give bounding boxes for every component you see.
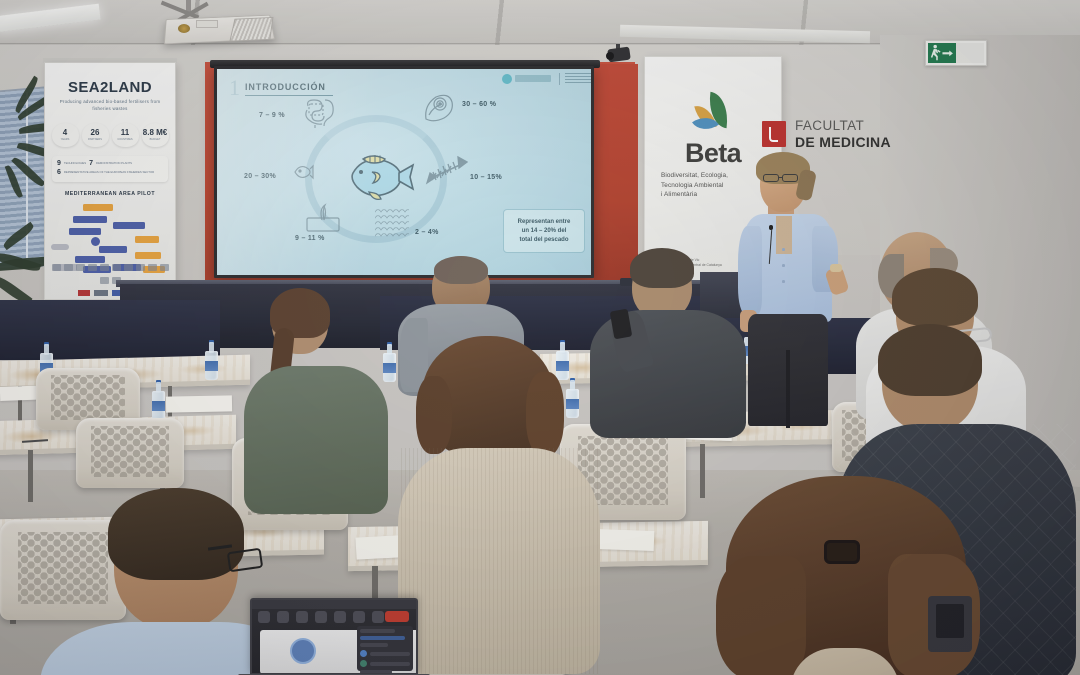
water-bottle[interactable] bbox=[205, 340, 218, 380]
secondary-logo-icon bbox=[565, 73, 591, 84]
intestines-icon bbox=[303, 97, 339, 134]
shirt-button bbox=[782, 264, 785, 267]
leave-meeting-button[interactable] bbox=[385, 611, 409, 622]
app-title-bar bbox=[252, 600, 416, 609]
callout-line-3: total del pescado bbox=[519, 236, 568, 244]
fish-skin-icon bbox=[305, 203, 343, 238]
hair bbox=[434, 256, 488, 284]
sea2land-facts: 9 TECHNOLOGIES 7 DEMONSTRATION PLANTS 6 … bbox=[52, 156, 168, 182]
shirt-button bbox=[782, 280, 785, 283]
conference-room-scene: 1 INTRODUCCIÓN bbox=[0, 0, 1080, 675]
red-accent-wall-right bbox=[594, 64, 638, 292]
uvic-logo-icon bbox=[762, 121, 786, 147]
emergency-exit-sign bbox=[925, 40, 987, 66]
project-logo-icon bbox=[502, 74, 512, 84]
sea2land-tagline: Producing advanced bio-based fertilisers… bbox=[45, 99, 175, 112]
slide-title-underline bbox=[245, 95, 333, 96]
hair bbox=[878, 324, 982, 396]
device-screen bbox=[936, 604, 964, 638]
label-trimmings-pct: 20 – 30% bbox=[244, 173, 276, 180]
slide-number: 1 bbox=[229, 77, 240, 99]
label-skin-pct: 9 – 11 % bbox=[295, 235, 325, 242]
label-bones-pct: 10 – 15% bbox=[470, 174, 502, 181]
stat-label: BUDGET bbox=[150, 138, 161, 141]
stat-value: 26 bbox=[91, 129, 100, 137]
banner-sea2land: SEA2LAND Producing advanced bio-based fe… bbox=[44, 62, 176, 300]
faculty-sign-line-2: DE MEDICINA bbox=[795, 134, 891, 150]
fact-row: 6 REPRESENTATIVE AREAS OF THE EUROPEAN F… bbox=[57, 169, 163, 176]
water-bottle[interactable] bbox=[566, 378, 579, 418]
wristwatch-icon bbox=[830, 264, 842, 272]
knit-texture bbox=[398, 448, 600, 674]
fish-icon bbox=[339, 149, 417, 205]
callout-box: Representan entre un 14 – 20% del total … bbox=[503, 209, 585, 253]
water-bottle[interactable] bbox=[556, 340, 569, 380]
fact-value: 9 bbox=[57, 160, 61, 167]
label-head-pct: 30 – 60 % bbox=[462, 101, 496, 108]
exit-pictogram-panel bbox=[928, 43, 956, 63]
water-bottle[interactable] bbox=[383, 342, 396, 382]
table-leg bbox=[700, 444, 705, 498]
hair bbox=[108, 488, 244, 580]
running-man-exit-icon bbox=[928, 43, 956, 63]
back-curtain-left bbox=[0, 300, 220, 360]
stat-value: 11 bbox=[121, 129, 129, 137]
beta-leaf-logo-icon bbox=[692, 93, 734, 137]
participants-panel[interactable] bbox=[357, 626, 413, 671]
glasses-icon bbox=[763, 174, 779, 182]
slide-title: INTRODUCCIÓN bbox=[245, 82, 326, 92]
hair bbox=[630, 248, 694, 288]
fact-value: 6 bbox=[57, 169, 61, 176]
trouser-seam bbox=[786, 350, 790, 428]
fact-value: 7 bbox=[89, 160, 93, 167]
participant-row[interactable] bbox=[360, 660, 410, 667]
participant-row[interactable] bbox=[360, 650, 410, 657]
label-scales-pct: 2 – 4% bbox=[415, 229, 439, 236]
callout-line-1: Representan entre bbox=[518, 218, 571, 226]
fact-text: DEMONSTRATION PLANTS bbox=[96, 162, 132, 166]
projector-vent bbox=[229, 17, 273, 42]
projection-screen: 1 INTRODUCCIÓN bbox=[214, 66, 594, 278]
stat-bubble: 26 PARTNERS bbox=[82, 123, 109, 147]
glasses-icon bbox=[782, 174, 798, 182]
shirt-button bbox=[782, 248, 785, 251]
camera-toggle-icon[interactable] bbox=[277, 611, 289, 623]
stat-bubble: 4 YEARS bbox=[52, 123, 79, 147]
projector-label bbox=[196, 20, 218, 28]
meeting-toolbar[interactable] bbox=[258, 611, 384, 623]
glasses-bridge bbox=[779, 177, 782, 178]
callout-line-2: un 14 – 20% del bbox=[522, 227, 567, 235]
chair[interactable] bbox=[76, 418, 184, 488]
participant-avatar[interactable] bbox=[290, 638, 316, 664]
fact-text: TECHNOLOGIES bbox=[64, 162, 86, 166]
hair bbox=[892, 268, 978, 326]
hair-clip-icon bbox=[824, 540, 860, 564]
stat-bubble: 11 COUNTRIES bbox=[112, 123, 139, 147]
stat-label: COUNTRIES bbox=[117, 138, 132, 141]
camera-lens-icon bbox=[606, 52, 614, 60]
label-viscera-pct: 7 – 9 % bbox=[259, 112, 285, 119]
curly-hair-left bbox=[416, 376, 452, 454]
faculty-sign-line-1: FACULTAT bbox=[795, 118, 891, 134]
project-logo-wordmark bbox=[515, 75, 551, 82]
fact-row: 9 TECHNOLOGIES 7 DEMONSTRATION PLANTS bbox=[57, 160, 163, 167]
curly-hair-right bbox=[526, 372, 564, 456]
mic-toggle-icon[interactable] bbox=[258, 611, 270, 623]
fish-bones-icon bbox=[424, 155, 468, 194]
sea2land-logo: SEA2LAND bbox=[45, 79, 175, 96]
share-screen-icon[interactable] bbox=[296, 611, 308, 623]
projector-lens-icon bbox=[178, 24, 190, 33]
paper-sheet bbox=[596, 529, 655, 551]
reactions-icon[interactable] bbox=[315, 611, 327, 623]
sea2land-pilot-title: MEDITERRANEAN AREA PILOT bbox=[45, 191, 175, 197]
stat-value: 8.8 M€ bbox=[143, 129, 167, 137]
participants-icon[interactable] bbox=[353, 611, 365, 623]
sea2land-stats-row: 4 YEARS 26 PARTNERS 11 COUNTRIES 8.8 M€ … bbox=[45, 123, 175, 147]
table-leg bbox=[28, 450, 33, 502]
fact-text: REPRESENTATIVE AREAS OF THE EUROPEAN FIS… bbox=[64, 171, 154, 175]
logo-divider bbox=[559, 73, 560, 85]
laptop-screen[interactable] bbox=[250, 598, 418, 675]
fish-scales-icon bbox=[375, 207, 409, 239]
arm-left bbox=[738, 226, 762, 314]
stat-label: YEARS bbox=[61, 138, 70, 141]
exit-blank-panel bbox=[956, 43, 984, 63]
water-bottle[interactable] bbox=[152, 380, 165, 420]
stat-bubble: 8.8 M€ BUDGET bbox=[142, 123, 169, 147]
stat-value: 4 bbox=[63, 129, 67, 137]
stat-label: PARTNERS bbox=[88, 138, 102, 141]
paper-sheet bbox=[166, 395, 232, 412]
fish-tail-icon bbox=[292, 162, 314, 187]
fish-head-icon bbox=[422, 93, 454, 128]
hair-strand-left bbox=[716, 556, 806, 675]
slide-surface: 1 INTRODUCCIÓN bbox=[217, 69, 591, 275]
more-options-icon[interactable] bbox=[372, 611, 384, 623]
chat-icon[interactable] bbox=[334, 611, 346, 623]
